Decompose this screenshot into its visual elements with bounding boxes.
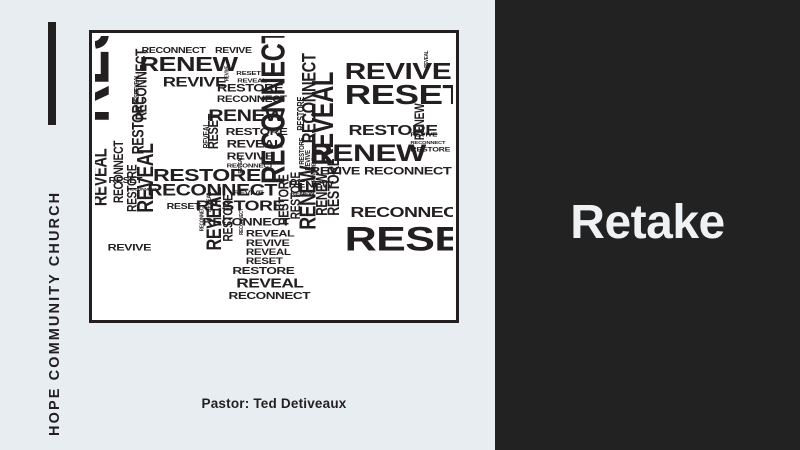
word-cloud-token: RESET <box>345 220 453 258</box>
left-content-panel: HOPE COMMUNITY CHURCH RESETRECONNECTREVI… <box>0 0 495 450</box>
word-cloud-token: RECONNECT <box>229 290 312 302</box>
word-cloud-token: REVIVE <box>246 238 291 248</box>
word-cloud-token: RECONNECT <box>239 207 246 235</box>
word-cloud-token: REVEAL <box>246 229 295 239</box>
word-cloud-token: REVEAL <box>246 248 291 257</box>
word-cloud-token: REVEAL <box>133 143 159 212</box>
right-title-panel: Retake <box>495 0 800 450</box>
sermon-artwork-frame: RESETRECONNECTREVIVERENEWRECONNECTREVEAL… <box>89 30 459 323</box>
word-cloud-token: RECONNECT <box>257 36 293 184</box>
word-cloud-token: REVEAL <box>95 149 111 206</box>
word-cloud-token: REVEAL <box>238 156 245 173</box>
word-cloud-token: REVEAL <box>201 122 211 148</box>
word-cloud-graphic: RESETRECONNECTREVIVERENEWRECONNECTREVEAL… <box>95 36 453 317</box>
word-cloud-token: REVEAL <box>423 51 430 68</box>
word-cloud-token: RESET <box>95 36 124 123</box>
sermon-title: Retake <box>570 199 724 247</box>
word-cloud-token: RESTORE <box>325 158 343 216</box>
word-cloud-token: RESTORE <box>232 265 294 277</box>
word-cloud-token: REVIVE <box>233 189 263 197</box>
word-cloud-token: REVIVE <box>108 243 153 253</box>
word-cloud-token: RECONNECT <box>364 164 452 177</box>
presentation-slide: HOPE COMMUNITY CHURCH RESETRECONNECTREVI… <box>0 0 800 450</box>
word-cloud-token: REVIVE <box>224 65 231 81</box>
word-cloud-token: RECONNECT <box>350 203 453 220</box>
word-cloud-token: REVEAL <box>236 276 303 291</box>
church-name-vertical: HOPE COMMUNITY CHURCH <box>42 0 68 450</box>
word-cloud-token: RESET <box>345 78 453 110</box>
sermon-artwork: RESETRECONNECTREVIVERENEWRECONNECTREVEAL… <box>95 36 453 317</box>
word-cloud-token: REVIVE <box>410 132 437 138</box>
word-cloud-token: RESTORE <box>220 194 236 242</box>
pastor-credit: Pastor: Ted Detiveaux <box>89 396 459 411</box>
